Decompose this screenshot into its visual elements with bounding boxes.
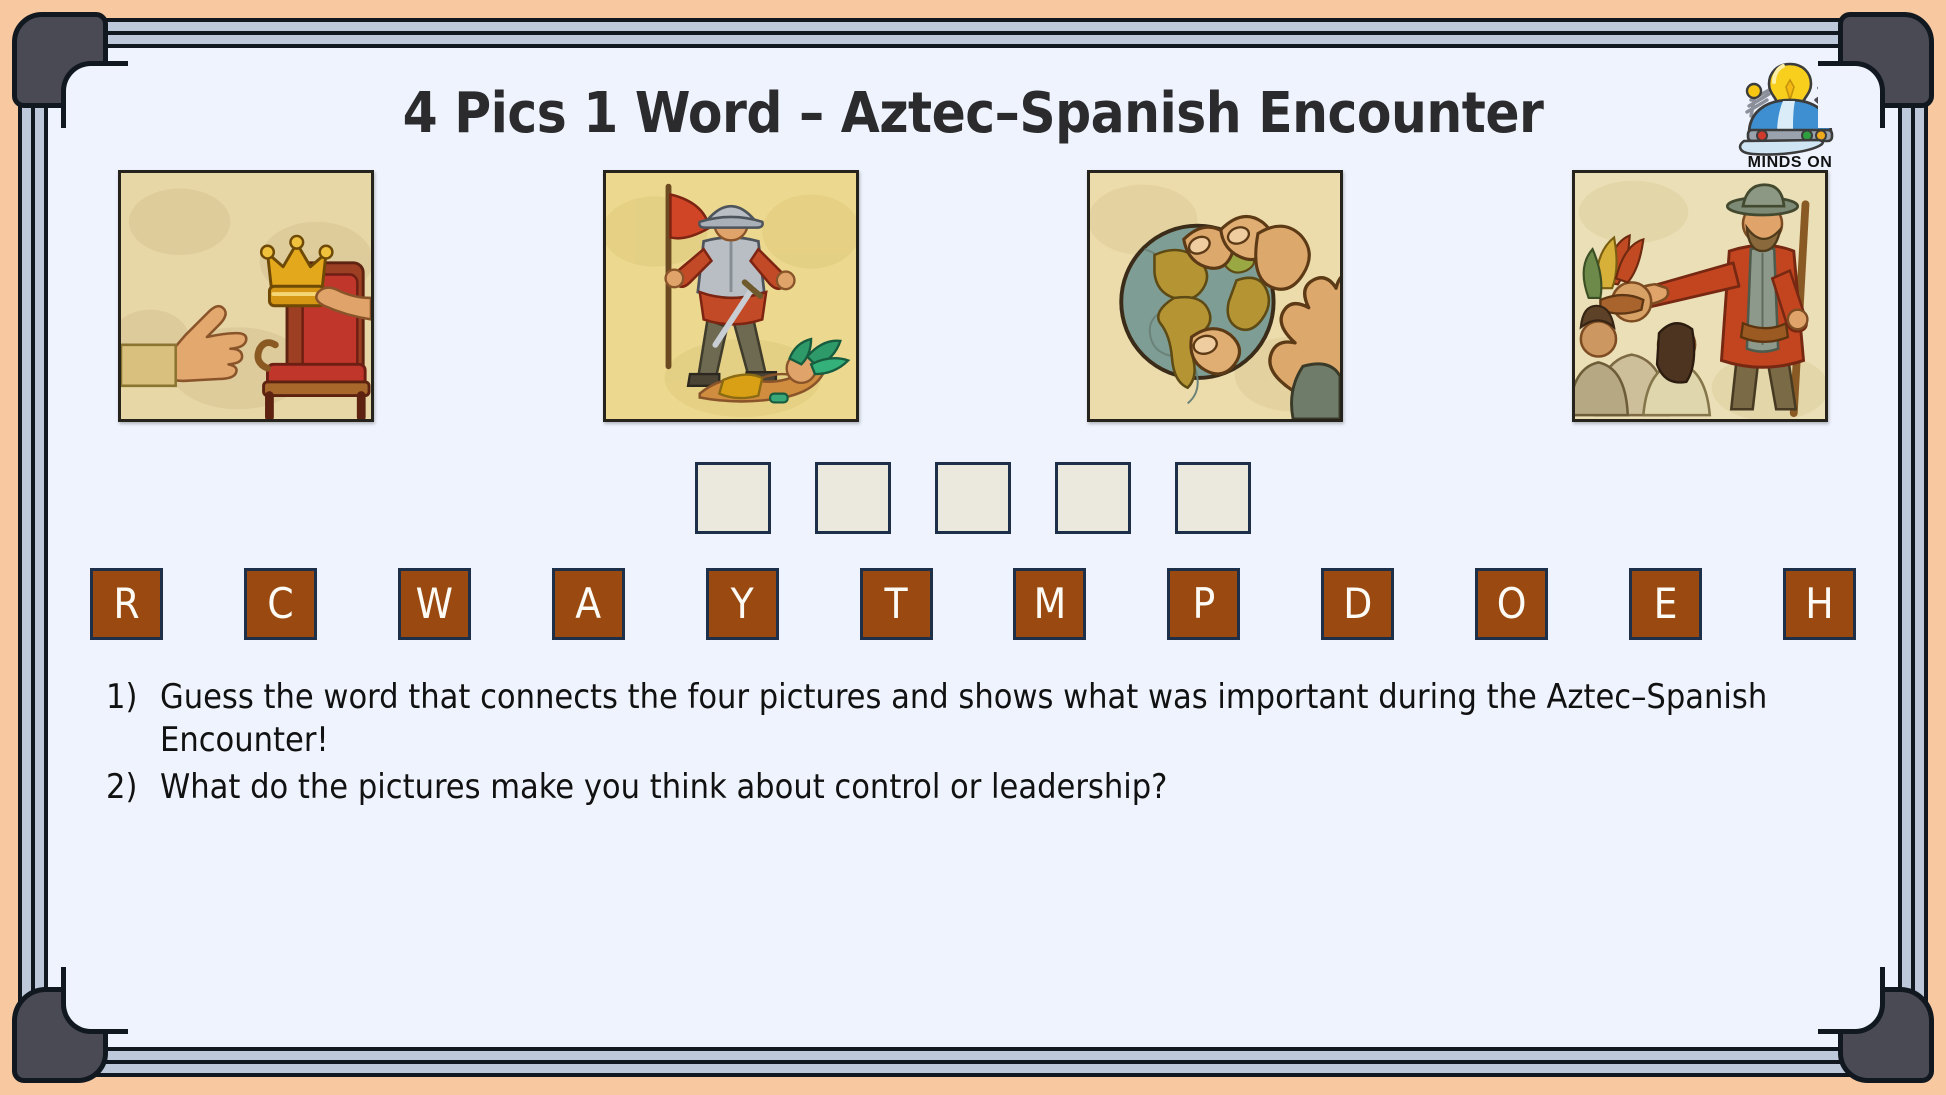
letter-bank: R C W A Y T M P D O E H: [90, 568, 1856, 640]
frame-corner-top-right: [1838, 12, 1934, 108]
question-list: 1) Guess the word that connects the four…: [106, 676, 1846, 814]
picture-spaniard-pointing-at-indigenous-group: [1572, 170, 1828, 422]
logo-label: MINDS ON: [1724, 154, 1856, 172]
letter-tile-m[interactable]: M: [1013, 568, 1086, 640]
page-title: 4 Pics 1 Word – Aztec–Spanish Encounter: [48, 81, 1898, 146]
letter-tile-t[interactable]: T: [860, 568, 933, 640]
frame-corner-bottom-right: [1838, 987, 1934, 1083]
question-text: Guess the word that connects the four pi…: [160, 676, 1846, 762]
question-item-1: 1) Guess the word that connects the four…: [106, 676, 1846, 762]
letter-tile-o[interactable]: O: [1475, 568, 1548, 640]
letter-tile-e[interactable]: E: [1629, 568, 1702, 640]
letter-tile-d[interactable]: D: [1321, 568, 1394, 640]
letter-tile-a[interactable]: A: [552, 568, 625, 640]
answer-slot[interactable]: [815, 462, 891, 534]
answer-slot-row: [48, 462, 1898, 534]
letter-tile-h[interactable]: H: [1783, 568, 1856, 640]
letter-tile-y[interactable]: Y: [706, 568, 779, 640]
letter-tile-w[interactable]: W: [398, 568, 471, 640]
picture-crown-offered-to-throne: [118, 170, 374, 422]
question-item-2: 2) What do the pictures make you think a…: [106, 766, 1846, 809]
picture-row: [118, 170, 1828, 428]
frame-corner-top-left: [12, 12, 108, 108]
picture-hand-gripping-globe: [1087, 170, 1343, 422]
answer-slot[interactable]: [695, 462, 771, 534]
slide-canvas: 4 Pics 1 Word – Aztec–Spanish Encounter: [0, 0, 1946, 1095]
question-number: 1): [106, 676, 160, 719]
answer-slot[interactable]: [1175, 462, 1251, 534]
question-text: What do the pictures make you think abou…: [160, 766, 1846, 809]
letter-tile-c[interactable]: C: [244, 568, 317, 640]
picture-conquistador-standing-over-aztec-warrior: [603, 170, 859, 422]
answer-slot[interactable]: [1055, 462, 1131, 534]
letter-tile-r[interactable]: R: [90, 568, 163, 640]
letter-tile-p[interactable]: P: [1167, 568, 1240, 640]
frame-corner-bottom-left: [12, 987, 108, 1083]
answer-slot[interactable]: [935, 462, 1011, 534]
question-number: 2): [106, 766, 160, 809]
slide-page: 4 Pics 1 Word – Aztec–Spanish Encounter: [48, 48, 1898, 1047]
